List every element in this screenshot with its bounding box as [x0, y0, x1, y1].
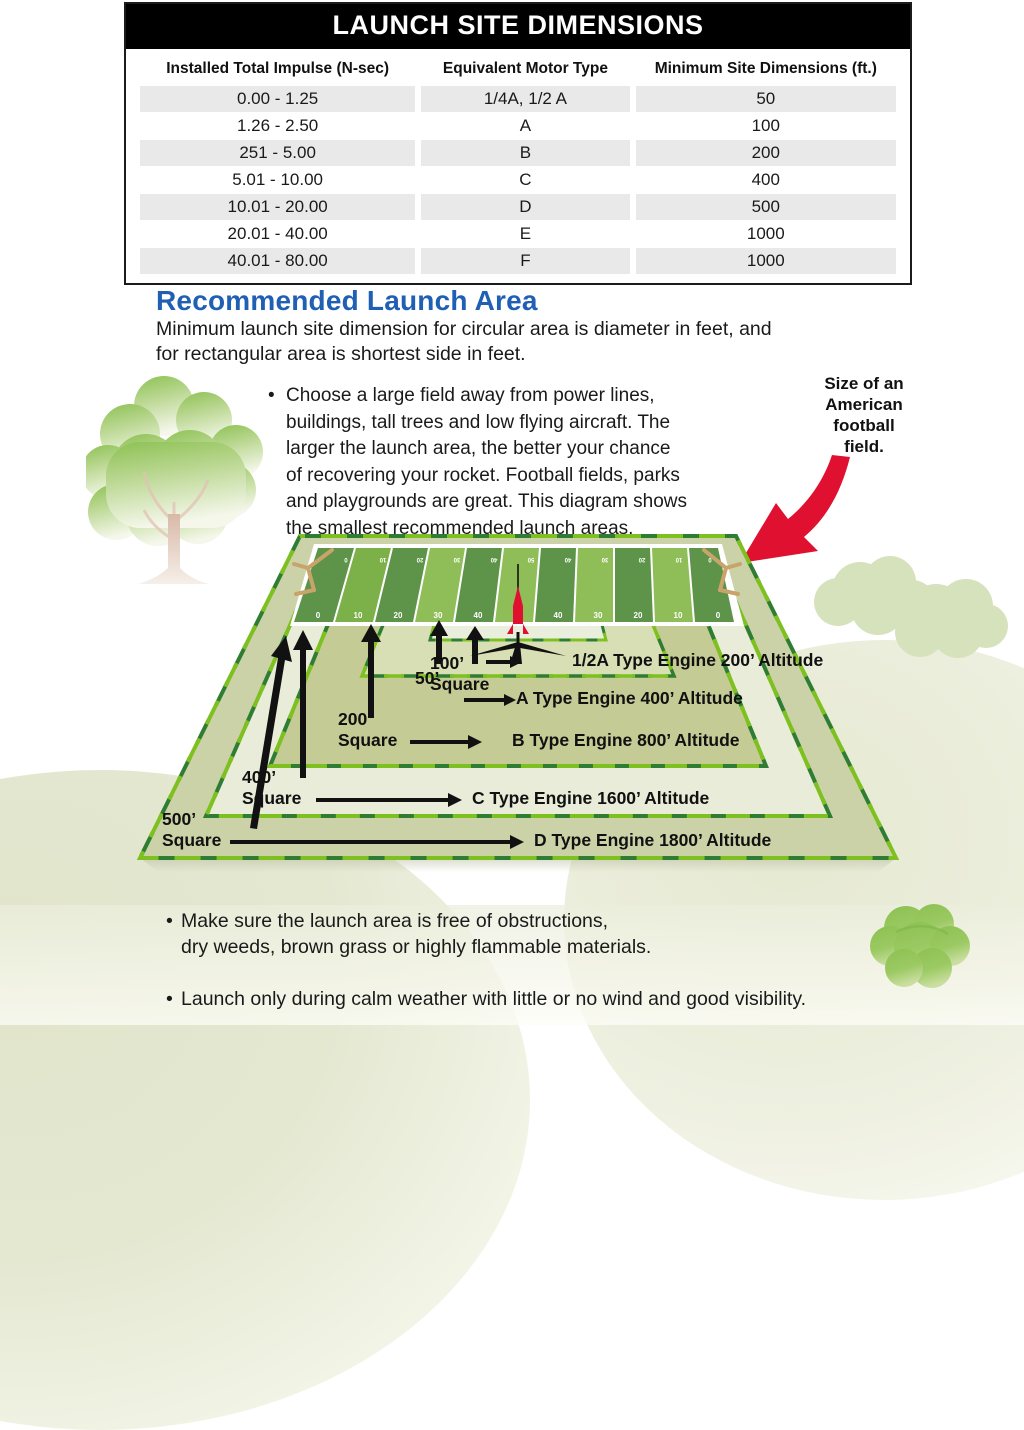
cell-impulse: 20.01 - 40.00	[140, 221, 415, 247]
footer-bullet-2: • Launch only during calm weather with l…	[166, 986, 956, 1012]
engine-label-a: A Type Engine 400’ Altitude	[516, 688, 743, 708]
launch-site-dimensions-table: LAUNCH SITE DIMENSIONS Installed Total I…	[124, 2, 912, 285]
footer-bullet-1-line-1: Make sure the launch area is free of obs…	[181, 908, 806, 934]
cell-impulse: 1.26 - 2.50	[140, 113, 415, 139]
table-row: 20.01 - 40.00 E 1000	[140, 221, 896, 247]
callout-line-1: Size of an	[806, 373, 922, 394]
svg-text:20: 20	[394, 611, 403, 620]
cell-impulse: 5.01 - 10.00	[140, 167, 415, 193]
bush-icon-bottom	[866, 898, 978, 994]
recommended-launch-area-subtext: Minimum launch site dimension for circul…	[156, 317, 796, 367]
label-400-square-block: 400’ Square	[242, 767, 301, 809]
footer-bullet-1: • Make sure the launch area is free of o…	[166, 908, 806, 960]
cell-motor: C	[421, 167, 629, 193]
svg-text:0: 0	[316, 611, 321, 620]
svg-text:20: 20	[638, 556, 645, 562]
cell-site: 1000	[636, 248, 896, 274]
cell-site: 50	[636, 86, 896, 112]
cell-impulse: 10.01 - 20.00	[140, 194, 415, 220]
table-row: 40.01 - 80.00 F 1000	[140, 248, 896, 274]
label-100-square-block: 100’ Square	[430, 653, 489, 695]
footer-bullet-1-line-2: dry weeds, brown grass or highly flammab…	[181, 934, 806, 960]
callout-line-2: American	[806, 394, 922, 415]
bullet-marker-icon: •	[166, 986, 173, 1012]
svg-text:0: 0	[716, 611, 721, 620]
svg-text:10: 10	[675, 556, 682, 562]
table-row: 251 - 5.00 B 200	[140, 140, 896, 166]
cell-site: 400	[636, 167, 896, 193]
label-200-square-block: 200’ Square	[338, 709, 397, 751]
cell-site: 100	[636, 113, 896, 139]
cell-motor: F	[421, 248, 629, 274]
cell-site: 200	[636, 140, 896, 166]
footer-bullet-2-text: Launch only during calm weather with lit…	[181, 986, 956, 1012]
engine-label-d: D Type Engine 1800’ Altitude	[534, 830, 771, 850]
table-row: 0.00 - 1.25 1/4A, 1/2 A 50	[140, 86, 896, 112]
engine-label-half-a: 1/2A Type Engine 200’ Altitude	[572, 650, 823, 670]
label-200-size: 200’	[338, 709, 397, 730]
callout-line-4: field.	[806, 436, 922, 457]
svg-text:10: 10	[379, 556, 386, 562]
label-100-size: 100’	[430, 653, 489, 674]
engine-label-c: C Type Engine 1600’ Altitude	[472, 788, 709, 808]
column-header-impulse: Installed Total Impulse (N-sec)	[140, 54, 415, 85]
svg-text:50: 50	[527, 556, 534, 562]
cell-impulse: 0.00 - 1.25	[140, 86, 415, 112]
svg-text:20: 20	[416, 556, 423, 562]
table-row: 10.01 - 20.00 D 500	[140, 194, 896, 220]
dimensions-table: Installed Total Impulse (N-sec) Equivale…	[126, 49, 910, 283]
svg-text:30: 30	[434, 611, 443, 620]
bullet-marker-icon: •	[166, 908, 173, 934]
column-header-motor: Equivalent Motor Type	[421, 54, 629, 85]
main-bullet-text: Choose a large field away from power lin…	[286, 383, 688, 542]
svg-text:40: 40	[474, 611, 483, 620]
cell-site: 500	[636, 194, 896, 220]
callout-line-3: football	[806, 415, 922, 436]
cell-motor: E	[421, 221, 629, 247]
football-field-callout: Size of an American football field.	[806, 373, 922, 457]
label-500-size: 500’	[162, 809, 221, 830]
svg-text:20: 20	[634, 611, 643, 620]
table-header-row: Installed Total Impulse (N-sec) Equivale…	[140, 54, 896, 85]
label-500-square-block: 500’ Square	[162, 809, 221, 851]
svg-text:40: 40	[490, 556, 497, 562]
table-title: LAUNCH SITE DIMENSIONS	[126, 4, 910, 49]
table-row: 5.01 - 10.00 C 400	[140, 167, 896, 193]
recommended-launch-area-heading: Recommended Launch Area	[156, 285, 538, 317]
cell-motor: B	[421, 140, 629, 166]
main-bullet-paragraph: • Choose a large field away from power l…	[268, 383, 688, 542]
infographic-canvas: LAUNCH SITE DIMENSIONS Installed Total I…	[0, 0, 1024, 1024]
svg-text:10: 10	[674, 611, 683, 620]
svg-text:10: 10	[354, 611, 363, 620]
cell-impulse: 40.01 - 80.00	[140, 248, 415, 274]
label-200-word: Square	[338, 730, 397, 751]
label-500-word: Square	[162, 830, 221, 851]
cell-motor: D	[421, 194, 629, 220]
column-header-site: Minimum Site Dimensions (ft.)	[636, 54, 896, 85]
table-row: 1.26 - 2.50 A 100	[140, 113, 896, 139]
svg-text:40: 40	[554, 611, 563, 620]
cell-motor: 1/4A, 1/2 A	[421, 86, 629, 112]
svg-text:30: 30	[453, 556, 460, 562]
svg-text:30: 30	[594, 611, 603, 620]
engine-label-b: B Type Engine 800’ Altitude	[512, 730, 740, 750]
label-100-word: Square	[430, 674, 489, 695]
label-400-word: Square	[242, 788, 301, 809]
cell-motor: A	[421, 113, 629, 139]
cell-impulse: 251 - 5.00	[140, 140, 415, 166]
launch-area-perspective-diagram: 0 10 20 30 40 50 40 30 20 10 0 0 10 20	[118, 528, 918, 878]
cell-site: 1000	[636, 221, 896, 247]
svg-text:40: 40	[564, 556, 571, 562]
label-400-size: 400’	[242, 767, 301, 788]
svg-text:30: 30	[601, 556, 608, 562]
